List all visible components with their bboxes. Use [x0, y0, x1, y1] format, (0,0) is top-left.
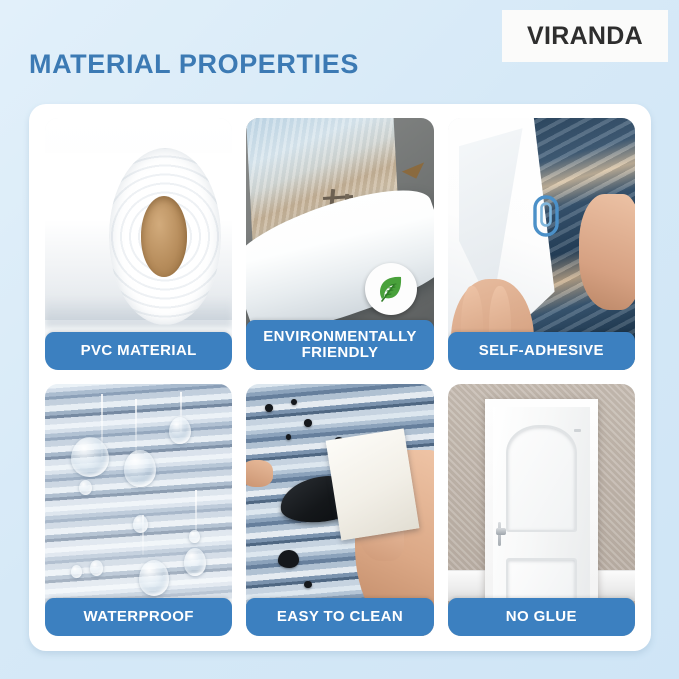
feature-label-text-line1: ENVIRONMENTALLY	[263, 329, 417, 345]
feature-label-text-line2: FRIENDLY	[263, 345, 417, 361]
leaf-eco-badge	[365, 263, 417, 315]
feature-label-text: NO GLUE	[506, 609, 577, 625]
feature-grid: PVC MATERIAL	[45, 118, 635, 636]
feature-cell-pvc-material[interactable]: PVC MATERIAL	[45, 118, 232, 370]
leaf-icon	[374, 272, 408, 306]
hand-right	[579, 194, 635, 310]
door-leaf	[493, 407, 590, 605]
cleaning-cloth	[325, 429, 418, 541]
header: MATERIAL PROPERTIES VIRANDA	[0, 0, 679, 105]
feature-label-self-adhesive: SELF-ADHESIVE	[448, 332, 635, 370]
feature-label-pvc-material: PVC MATERIAL	[45, 332, 232, 370]
brand-logo: VIRANDA	[502, 10, 668, 62]
paperclip-icon	[524, 194, 568, 238]
feature-label-environmentally-friendly: ENVIRONMENTALLY FRIENDLY	[246, 320, 433, 370]
feature-cell-self-adhesive[interactable]: SELF-ADHESIVE	[448, 118, 635, 370]
feature-cell-waterproof[interactable]: WATERPROOF	[45, 384, 232, 636]
feature-label-text: PVC MATERIAL	[81, 343, 197, 359]
door-frame	[485, 399, 597, 606]
feature-label-no-glue: NO GLUE	[448, 598, 635, 636]
brand-name: VIRANDA	[527, 22, 643, 51]
feature-card: PVC MATERIAL	[29, 104, 651, 651]
door-handle-icon	[496, 528, 507, 534]
page-title: MATERIAL PROPERTIES	[29, 49, 359, 80]
feature-label-text: SELF-ADHESIVE	[479, 343, 604, 359]
feature-label-text: WATERPROOF	[83, 609, 193, 625]
feature-cell-no-glue[interactable]: NO GLUE	[448, 384, 635, 636]
feature-label-waterproof: WATERPROOF	[45, 598, 232, 636]
feature-label-easy-to-clean: EASY TO CLEAN	[246, 598, 433, 636]
feature-cell-easy-to-clean[interactable]: EASY TO CLEAN	[246, 384, 433, 636]
feature-cell-environmentally-friendly[interactable]: ENVIRONMENTALLY FRIENDLY	[246, 118, 433, 370]
feature-label-text: EASY TO CLEAN	[277, 609, 403, 625]
